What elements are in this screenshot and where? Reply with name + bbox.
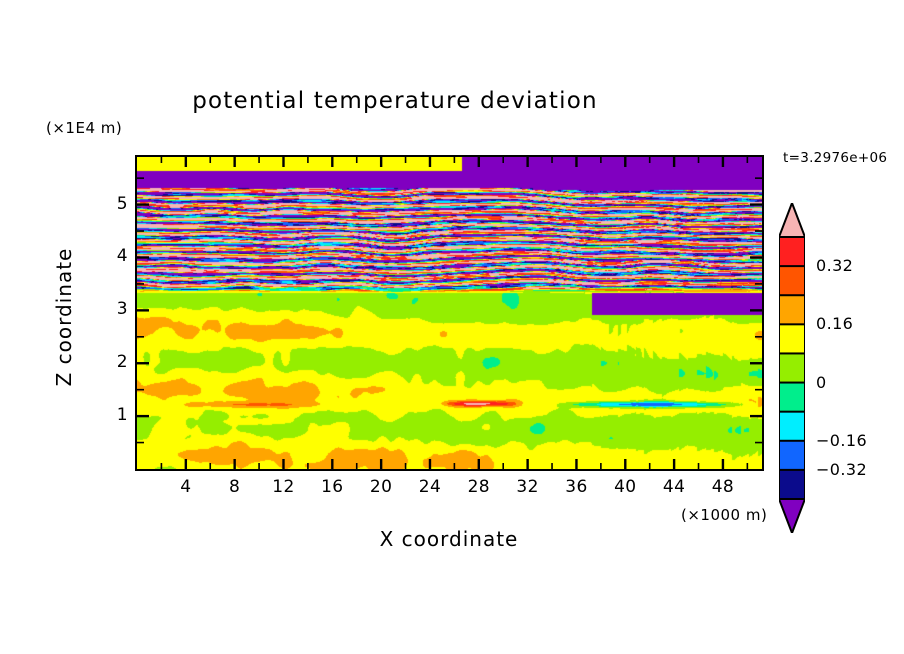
x-tick-label: 36 — [554, 477, 598, 497]
y-axis-unit-label: (×1E4 m) — [46, 119, 122, 137]
page-title: potential temperature deviation — [0, 88, 790, 114]
colorbar-segment — [779, 266, 805, 296]
colorbar-segment — [779, 324, 805, 354]
colorbar-tick-label: 0.16 — [816, 314, 853, 333]
colorbar-segment — [779, 412, 805, 442]
colorbar-tick-label: −0.32 — [816, 460, 867, 479]
x-tick-label: 24 — [408, 477, 452, 497]
contour-plot-area — [135, 155, 764, 471]
colorbar-tick-label: 0 — [816, 373, 827, 392]
y-tick-label: 5 — [88, 194, 128, 214]
colorbar-tick-label: −0.16 — [816, 431, 867, 450]
time-annotation: t=3.2976e+06 — [783, 150, 887, 166]
x-tick-label: 32 — [506, 477, 550, 497]
y-tick-label: 2 — [88, 352, 128, 372]
contour-field — [137, 157, 762, 469]
colorbar-cap-bottom — [779, 499, 805, 533]
y-axis-title: Z coordinate — [52, 217, 76, 417]
x-tick-label: 16 — [310, 477, 354, 497]
x-tick-label: 4 — [164, 477, 208, 497]
colorbar-segment — [779, 383, 805, 413]
x-tick-label: 8 — [213, 477, 257, 497]
figure-canvas: potential temperature deviation (×1E4 m)… — [0, 0, 904, 654]
colorbar-tick-label: 0.32 — [816, 256, 853, 275]
colorbar-segment — [779, 353, 805, 383]
x-tick-label: 28 — [457, 477, 501, 497]
x-axis-title: X coordinate — [269, 527, 629, 551]
x-tick-label: 48 — [701, 477, 745, 497]
y-tick-label: 3 — [88, 299, 128, 319]
colorbar-segment — [779, 237, 805, 267]
y-tick-label: 4 — [88, 246, 128, 266]
x-tick-label: 12 — [261, 477, 305, 497]
colorbar-segment — [779, 470, 805, 500]
colorbar — [779, 203, 805, 533]
x-tick-label: 44 — [652, 477, 696, 497]
colorbar-segment — [779, 295, 805, 325]
colorbar-cap-top — [779, 203, 805, 237]
x-tick-label: 20 — [359, 477, 403, 497]
x-axis-unit-label: (×1000 m) — [681, 506, 767, 524]
colorbar-segment — [779, 441, 805, 471]
x-tick-label: 40 — [603, 477, 647, 497]
y-tick-label: 1 — [88, 405, 128, 425]
